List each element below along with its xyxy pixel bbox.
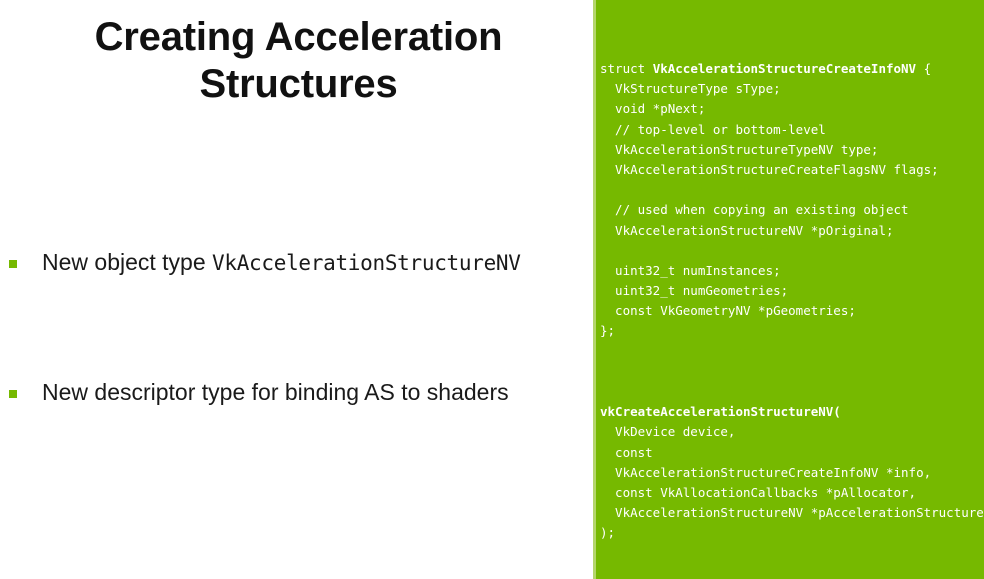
panel-accent-stripe [593,0,596,579]
code-line: VkAccelerationStructureCreateFlagsNV fla… [600,160,984,180]
code-block: struct VkAccelerationStructureCreateInfo… [600,0,984,579]
code-type-name: VkAccelerationStructureCreateInfoNV [653,61,916,76]
code-line: VkAccelerationStructureCreateInfoNV *inf… [600,463,984,483]
code-line [600,241,984,261]
code-line: const VkAllocationCallbacks *pAllocator, [600,483,984,503]
code-line: uint32_t numGeometries; [600,281,984,301]
code-line: VkDevice device, [600,422,984,442]
code-line: VkStructureType sType; [600,79,984,99]
code-line: const [600,443,984,463]
bullet-item-label-1: New object type VkAccelerationStructureN… [42,248,593,278]
list-item: New descriptor type for binding AS to sh… [0,378,593,412]
bullet-text-plain-1: New object type [42,249,212,275]
code-line: uint32_t numInstances; [600,261,984,281]
code-line: // top-level or bottom-level [600,120,984,140]
code-line: struct VkAccelerationStructureCreateInfo… [600,59,984,79]
bullet-text-plain-2: New descriptor type for binding AS to sh… [42,379,509,405]
left-content-column: Creating Acceleration Structures New obj… [0,0,593,579]
code-line [600,180,984,200]
code-line [600,382,984,402]
bullet-text-mono-1: VkAccelerationStructureNV [212,251,521,275]
code-line: vkCreateAccelerationStructureNV( [600,402,984,422]
code-line-list: struct VkAccelerationStructureCreateInfo… [600,59,984,544]
code-line: }; [600,321,984,341]
code-line: VkAccelerationStructureNV *pOriginal; [600,221,984,241]
code-line [600,342,984,362]
bullet-list: New object type VkAccelerationStructureN… [0,248,593,412]
code-line: void *pNext; [600,99,984,119]
square-bullet-icon [9,390,17,398]
list-item: New object type VkAccelerationStructureN… [0,248,593,282]
code-line: // used when copying an existing object [600,200,984,220]
code-line [600,362,984,382]
page-title: Creating Acceleration Structures [26,14,571,108]
square-bullet-icon [9,260,17,268]
code-line: VkAccelerationStructureTypeNV type; [600,140,984,160]
code-line: VkAccelerationStructureNV *pAcceleration… [600,503,984,523]
code-punctuation: { [916,61,931,76]
code-keyword: struct [600,61,653,76]
code-line: const VkGeometryNV *pGeometries; [600,301,984,321]
code-panel: struct VkAccelerationStructureCreateInfo… [593,0,984,579]
slide-root: Creating Acceleration Structures New obj… [0,0,984,579]
code-line: ); [600,523,984,543]
bullet-item-label-2: New descriptor type for binding AS to sh… [42,378,593,408]
